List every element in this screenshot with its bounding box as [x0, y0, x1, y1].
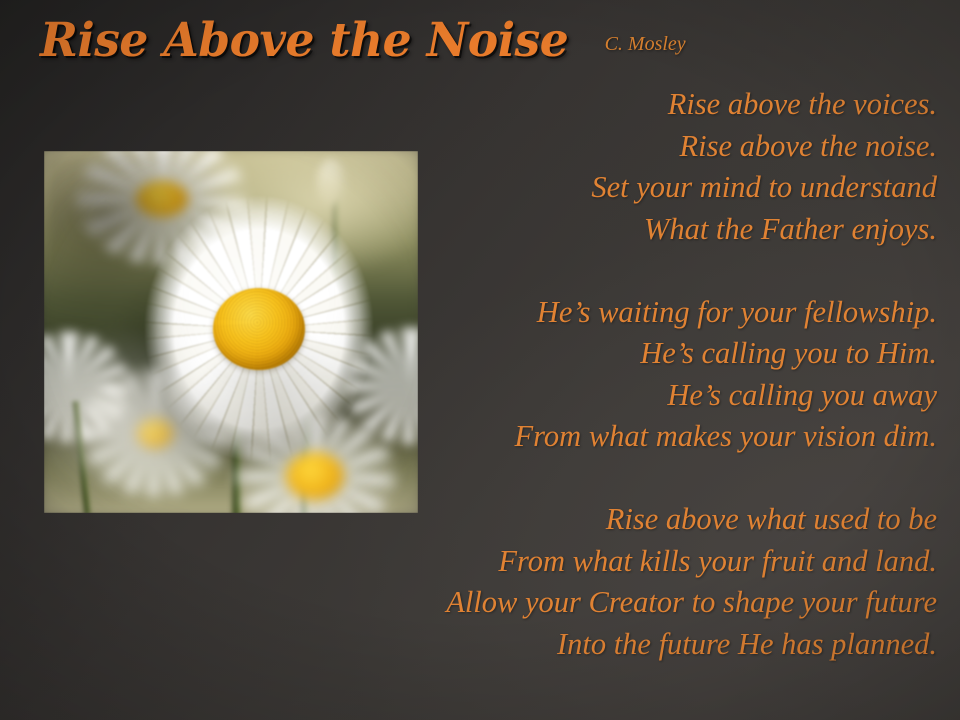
daisy-center [213, 288, 305, 370]
author-byline: C. Mosley [605, 33, 686, 55]
poem-line: He’s calling you to Him. [317, 333, 937, 375]
poem-line: Set your mind to understand [317, 167, 937, 209]
poem-line: Rise above the voices. [317, 84, 937, 126]
page-title: Rise Above the Noise [40, 13, 568, 69]
stanza-gap [317, 458, 937, 500]
poem-body: Rise above the voices. Rise above the no… [317, 84, 937, 665]
poem-line: From what makes your vision dim. [317, 416, 937, 458]
title-row: Rise Above the Noise C. Mosley [40, 13, 800, 73]
poem-line: Rise above what used to be [317, 499, 937, 541]
poem-line: What the Father enjoys. [317, 209, 937, 251]
poem-line: From what kills your fruit and land. [317, 541, 937, 583]
poem-stanza-3: Rise above what used to be From what kil… [317, 499, 937, 665]
poem-line: Allow your Creator to shape your future [317, 582, 937, 624]
poem-stanza-2: He’s waiting for your fellowship. He’s c… [317, 292, 937, 458]
poem-stanza-1: Rise above the voices. Rise above the no… [317, 84, 937, 250]
poem-line: Into the future He has planned. [317, 624, 937, 666]
slide-canvas: Rise Above the Noise C. Mosley [0, 0, 960, 720]
stanza-gap [317, 250, 937, 292]
poem-line: He’s waiting for your fellowship. [317, 292, 937, 334]
poem-line: Rise above the noise. [317, 126, 937, 168]
poem-line: He’s calling you away [317, 375, 937, 417]
